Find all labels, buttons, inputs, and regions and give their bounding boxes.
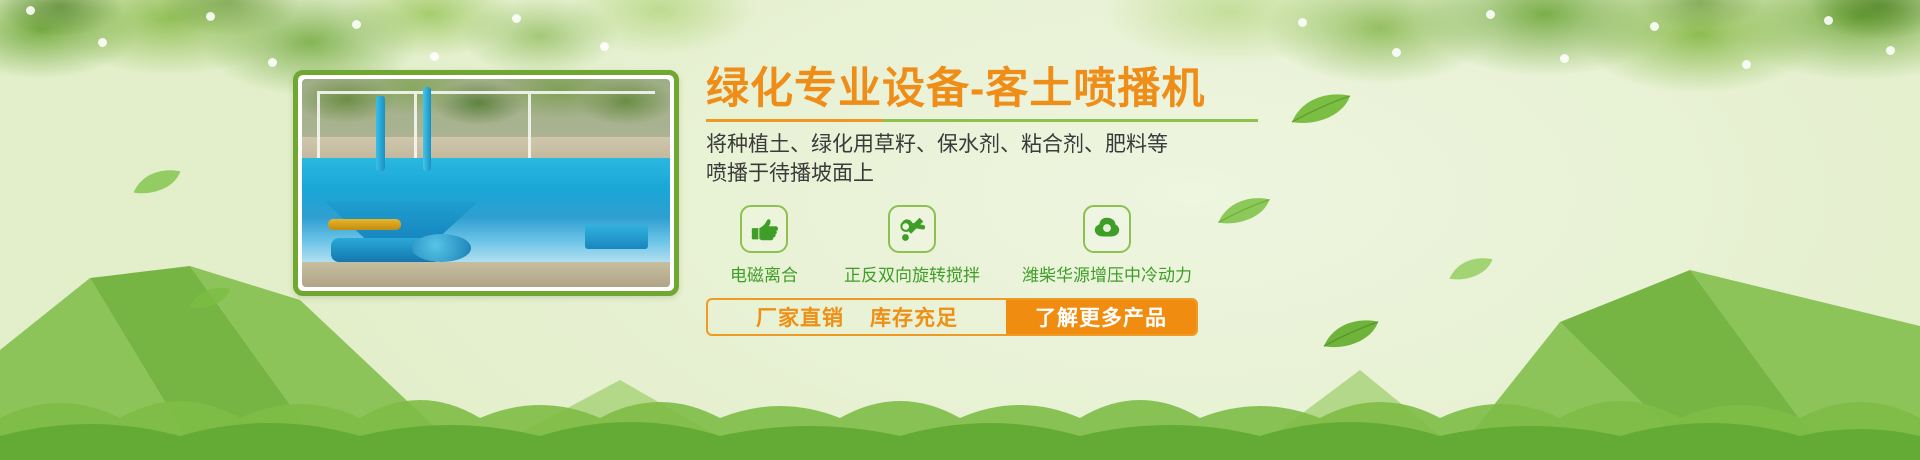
subtitle-line-1: 将种植土、绿化用草籽、保水剂、粘合剂、肥料等 [706, 131, 1326, 160]
subtitle-line-2: 喷播于待播坡面上 [706, 160, 1326, 189]
cta-bar: 厂家直销 库存充足 了解更多产品 [706, 298, 1198, 336]
thumbs-up-icon [740, 205, 788, 253]
product-photo [293, 70, 679, 296]
page-title: 绿化专业设备-客土喷播机 [706, 66, 1326, 112]
learn-more-button[interactable]: 了解更多产品 [1006, 300, 1196, 334]
cta-tag-in-stock: 库存充足 [870, 302, 958, 332]
feature-list: 电磁离合 正反双向旋转搅拌 [706, 205, 1326, 286]
leaf-icon [132, 168, 182, 196]
feature-item-weichai-power: 潍柴华源增压中冷动力 [1002, 205, 1212, 286]
leaf-icon [1448, 256, 1494, 282]
promo-banner: 绿化专业设备-客土喷播机 将种植土、绿化用草籽、保水剂、粘合剂、肥料等 喷播于待… [0, 0, 1920, 460]
grass-decoration [0, 374, 1920, 460]
engine-power-icon [1083, 205, 1131, 253]
feature-label: 潍柴华源增压中冷动力 [1002, 261, 1212, 286]
product-photo-image [302, 79, 670, 287]
title-divider [706, 119, 1258, 122]
wrench-screwdriver-icon [888, 205, 936, 253]
leaf-icon [188, 286, 232, 310]
banner-content: 绿化专业设备-客土喷播机 将种植土、绿化用草籽、保水剂、粘合剂、肥料等 喷播于待… [706, 66, 1326, 336]
feature-item-bidirectional-mixing: 正反双向旋转搅拌 [822, 205, 1002, 286]
feature-label: 正反双向旋转搅拌 [822, 261, 1002, 286]
feature-item-electromagnetic-clutch: 电磁离合 [706, 205, 822, 286]
cta-tag-direct-sale: 厂家直销 [756, 302, 844, 332]
feature-label: 电磁离合 [706, 261, 822, 286]
leaf-icon [1322, 318, 1380, 350]
cta-tags: 厂家直销 库存充足 [708, 300, 1006, 334]
